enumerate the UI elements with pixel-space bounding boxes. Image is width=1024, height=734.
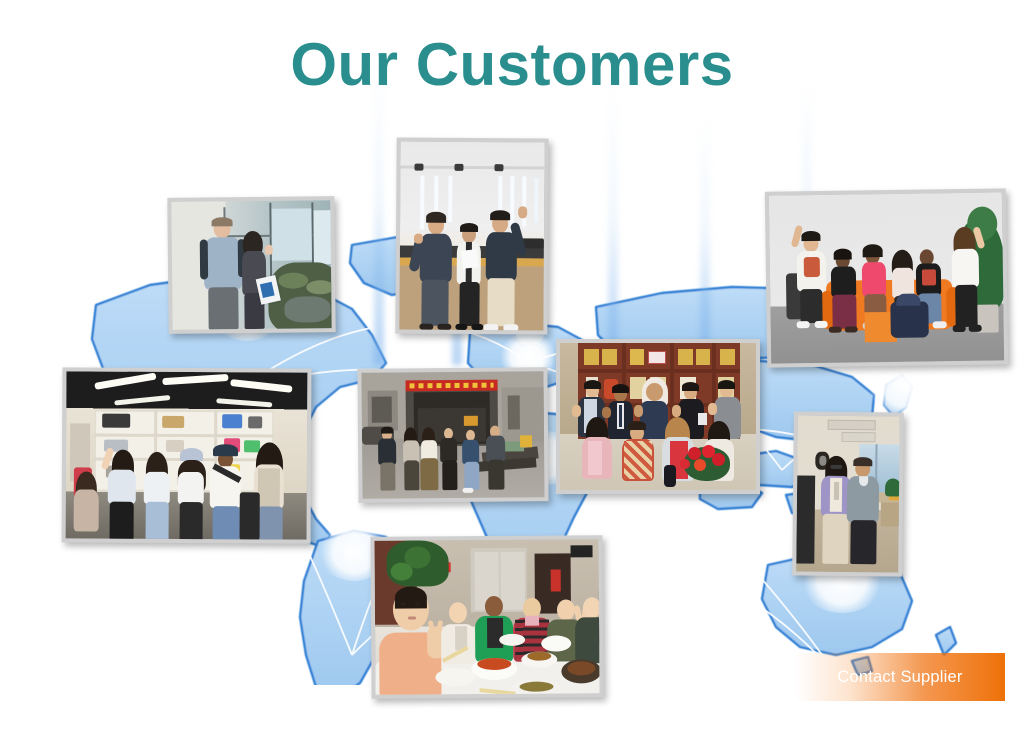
photo-3-image — [769, 192, 1004, 363]
contact-supplier-label: Contact Supplier — [837, 668, 962, 687]
customer-photo-4 — [62, 367, 312, 543]
customer-photo-5 — [357, 367, 548, 503]
photo-2-image — [399, 141, 544, 330]
page-title: Our Customers — [0, 30, 1024, 99]
customer-photo-1 — [167, 196, 335, 334]
customer-photo-2 — [395, 137, 548, 334]
customers-banner: Our Customers — [0, 0, 1024, 734]
customer-photo-6 — [556, 339, 760, 494]
customer-photo-3 — [765, 188, 1008, 367]
customer-photo-8 — [370, 535, 603, 699]
customer-photo-7 — [792, 411, 904, 576]
photo-8-image — [374, 539, 599, 695]
photo-6-image — [560, 343, 756, 490]
photo-5-image — [361, 371, 544, 499]
photo-1-image — [171, 200, 331, 330]
photo-4-image — [66, 371, 308, 539]
contact-supplier-button[interactable]: Contact Supplier — [795, 653, 1005, 701]
photo-7-image — [796, 415, 900, 572]
